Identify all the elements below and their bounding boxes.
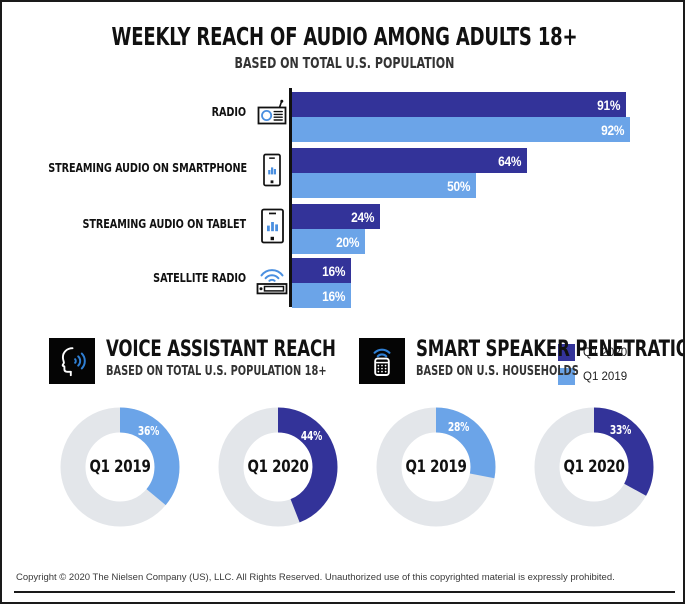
smartphone-icon [254,150,290,190]
page-title: WEEKLY REACH OF AUDIO AMONG ADULTS 18+ [71,22,619,51]
donut-percent-label: 44% [301,429,322,443]
bar-value-label: 16% [322,263,351,279]
bar-q1-2020: 24% [292,204,380,229]
satellite-radio-icon [254,260,290,300]
bar-row-label: STREAMING AUDIO ON TABLET [48,216,246,231]
footer-divider [14,591,675,593]
voice-assistant-title: VOICE ASSISTANT REACH [106,338,336,361]
donut-chart: Q1 202044% [217,406,339,528]
bar-value-label: 50% [447,178,476,194]
bar-q1-2019: 20% [292,229,365,254]
copyright-notice: Copyright © 2020 The Nielsen Company (US… [16,572,676,583]
bar-row-label: STREAMING AUDIO ON SMARTPHONE [48,160,246,175]
donut-center-label: Q1 2019 [382,406,489,528]
tablet-icon [254,206,290,246]
bar-value-label: 20% [336,234,365,250]
donut-chart: Q1 201928% [375,406,497,528]
bar-value-label: 91% [597,97,626,113]
bar-value-label: 64% [498,153,527,169]
radio-icon [254,94,290,134]
voice-assistant-icon [49,338,95,384]
infographic-canvas: WEEKLY REACH OF AUDIO AMONG ADULTS 18+ B… [0,0,685,604]
bar-q1-2019: 50% [292,173,476,198]
bar-row-label: SATELLITE RADIO [48,270,246,285]
voice-assistant-subtitle: BASED ON TOTAL U.S. POPULATION 18+ [106,364,336,379]
weekly-reach-bar-chart: RADIO91%92%STREAMING AUDIO ON SMARTPHONE… [2,86,685,314]
voice-assistant-section-header: VOICE ASSISTANT REACH BASED ON TOTAL U.S… [49,338,380,384]
bar-q1-2019: 92% [292,117,630,142]
donut-percent-label: 28% [448,420,469,434]
donut-percent-label: 33% [610,423,631,437]
bar-q1-2020: 64% [292,148,527,173]
bar-q1-2019: 16% [292,283,351,308]
donut-chart: Q1 201936% [59,406,181,528]
bar-q1-2020: 91% [292,92,626,117]
donut-center-label: Q1 2020 [540,406,647,528]
bar-row-label: RADIO [48,104,246,119]
page-subtitle: BASED ON TOTAL U.S. POPULATION [64,54,626,72]
bar-value-label: 92% [601,122,630,138]
smart-speaker-subtitle: BASED ON U.S. HOUSEHOLDS [416,364,685,379]
bar-value-label: 16% [322,288,351,304]
donut-center-label: Q1 2020 [224,406,331,528]
donut-percent-label: 36% [138,424,159,438]
bar-value-label: 24% [351,209,380,225]
smart-speaker-section-header: SMART SPEAKER PENETRATION BASED ON U.S. … [359,338,685,384]
donut-chart-row: Q1 201936%Q1 202044%Q1 201928%Q1 202033% [2,406,685,546]
smart-speaker-icon [359,338,405,384]
bar-q1-2020: 16% [292,258,351,283]
donut-chart: Q1 202033% [533,406,655,528]
smart-speaker-title: SMART SPEAKER PENETRATION [416,338,685,361]
